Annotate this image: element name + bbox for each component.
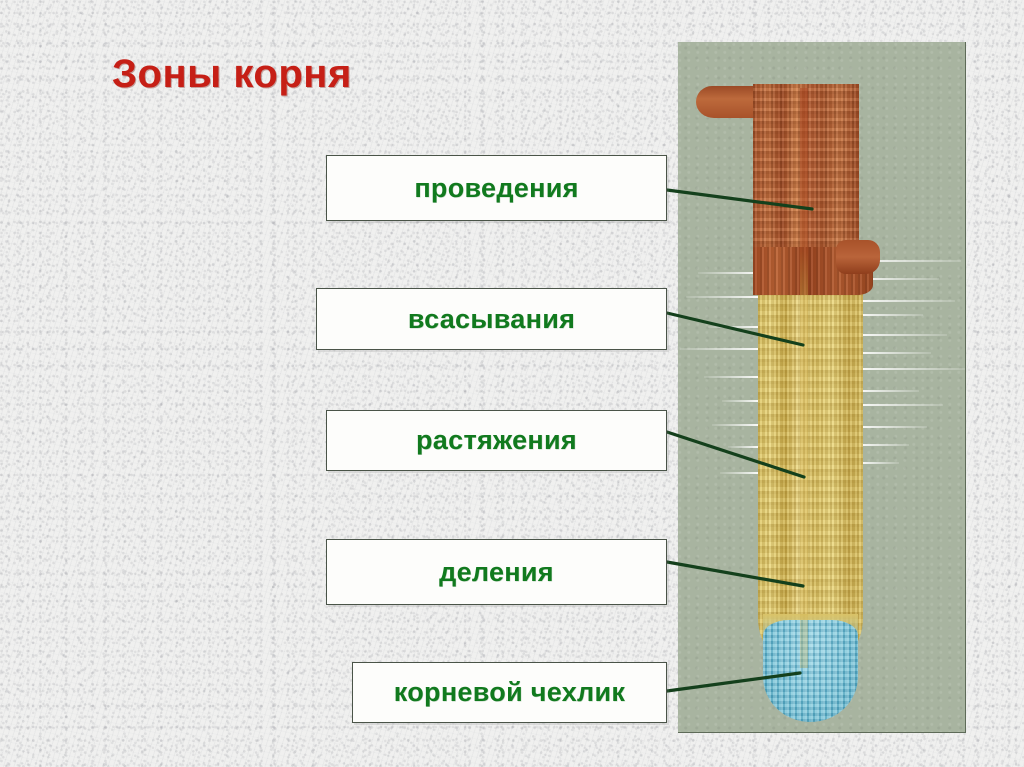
- root-hair: [861, 334, 947, 336]
- root-hair: [861, 352, 931, 354]
- zone-label-absorption-text: всасывания: [408, 304, 575, 335]
- root-hair: [720, 472, 758, 474]
- root-hair: [686, 296, 758, 298]
- root-hair: [698, 272, 758, 274]
- root-hair: [708, 326, 758, 328]
- central-cylinder: [800, 88, 808, 668]
- zone-label-absorption[interactable]: всасывания: [316, 288, 667, 350]
- root-hair: [861, 426, 927, 428]
- zone-label-root-cap[interactable]: корневой чехлик: [352, 662, 667, 723]
- zone-label-extension-text: растяжения: [416, 425, 577, 456]
- root-cap-zone: [763, 620, 858, 722]
- root-hair: [861, 444, 909, 446]
- zone-label-conducting[interactable]: проведения: [326, 155, 667, 221]
- root-diagram-panel: [678, 42, 966, 733]
- root-hair: [728, 446, 758, 448]
- root-hair: [680, 348, 758, 350]
- absorption-extension-division-zone: [758, 250, 863, 670]
- zone-label-root-cap-text: корневой чехлик: [394, 677, 625, 708]
- root-hair: [861, 300, 955, 302]
- root-hair: [712, 424, 758, 426]
- root-hair: [704, 376, 758, 378]
- zone-label-division[interactable]: деления: [326, 539, 667, 605]
- root-hair: [861, 462, 899, 464]
- root-hair: [861, 390, 919, 392]
- root-hair: [722, 400, 758, 402]
- page-title: Зоны корня: [112, 52, 352, 97]
- zone-label-extension[interactable]: растяжения: [326, 410, 667, 471]
- root-hair: [861, 314, 923, 316]
- root-hair: [861, 368, 965, 370]
- zone-label-conducting-text: проведения: [414, 173, 578, 204]
- lateral-root-left: [696, 86, 758, 118]
- zone-label-division-text: деления: [439, 557, 554, 588]
- lateral-root-right: [836, 240, 880, 274]
- root-hair: [861, 404, 943, 406]
- slide-canvas: Зоны корня пров: [0, 0, 1024, 767]
